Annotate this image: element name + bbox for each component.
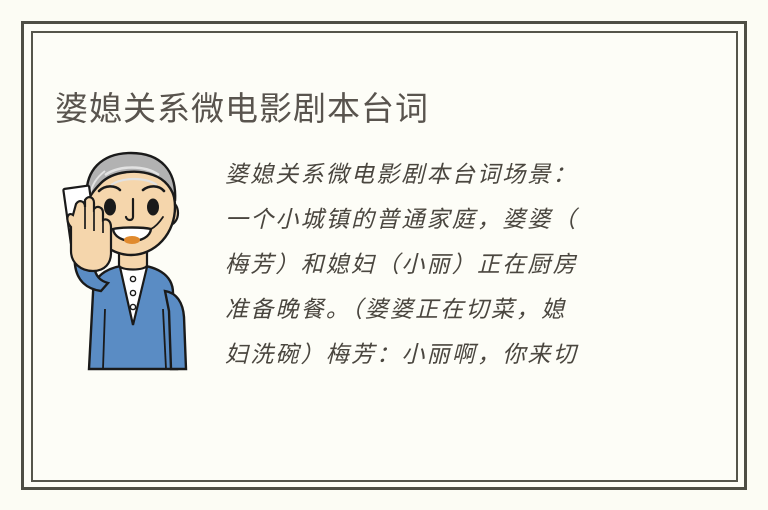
body-line: 一个小城镇的普通家庭，婆婆（	[225, 198, 655, 243]
body-line: 妇洗碗）梅芳：小丽啊，你来切	[225, 333, 655, 378]
page-root: 婆媳关系微电影剧本台词	[0, 0, 768, 510]
body-line: 梅芳）和媳妇（小丽）正在厨房	[225, 243, 655, 288]
body-text-block: 婆媳关系微电影剧本台词场景： 一个小城镇的普通家庭，婆婆（ 梅芳）和媳妇（小丽）…	[225, 153, 655, 378]
body-line: 婆媳关系微电影剧本台词场景：	[225, 153, 655, 198]
page-title: 婆媳关系微电影剧本台词	[55, 87, 429, 131]
body-line: 准备晚餐。（婆婆正在切菜，媳	[225, 288, 655, 333]
page-content: 婆媳关系微电影剧本台词	[33, 33, 736, 480]
elderly-person-on-phone-illustration	[53, 141, 213, 371]
